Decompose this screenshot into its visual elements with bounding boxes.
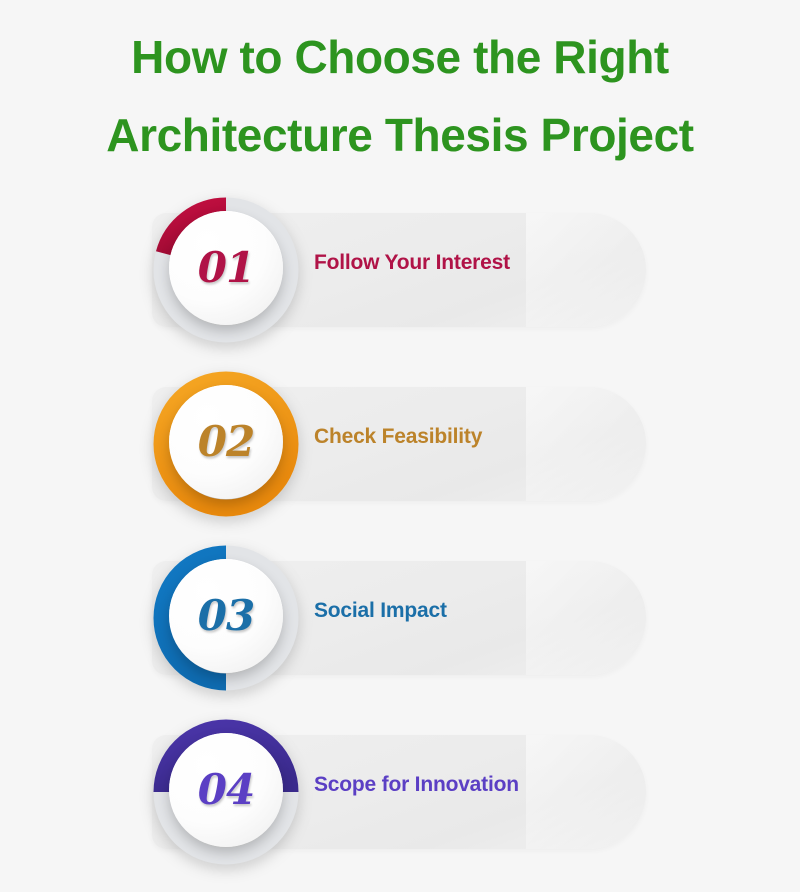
step-row[interactable]: 04Scope for Innovation [0,718,800,892]
step-badge[interactable]: 03 [152,544,300,692]
step-badge[interactable]: 02 [152,370,300,518]
steps-list: 01Follow Your Interest02Check Feasibilit… [0,196,800,892]
badge-disc: 03 [169,559,283,673]
page-title: How to Choose the Right Architecture The… [0,18,800,174]
step-number: 02 [198,421,254,463]
page-title-line-2: Architecture Thesis Project [0,96,800,174]
step-number: 03 [198,595,254,637]
page-title-line-1: How to Choose the Right [0,18,800,96]
step-label: Social Impact [314,599,447,623]
step-badge[interactable]: 04 [152,718,300,866]
step-label: Follow Your Interest [314,251,510,275]
badge-disc: 04 [169,733,283,847]
step-number: 01 [198,247,254,289]
badge-disc: 01 [169,211,283,325]
step-badge[interactable]: 01 [152,196,300,344]
step-row[interactable]: 02Check Feasibility [0,370,800,544]
step-number: 04 [198,769,254,811]
badge-disc: 02 [169,385,283,499]
step-label: Scope for Innovation [314,773,519,797]
step-row[interactable]: 03Social Impact [0,544,800,718]
step-row[interactable]: 01Follow Your Interest [0,196,800,370]
step-label: Check Feasibility [314,425,482,449]
